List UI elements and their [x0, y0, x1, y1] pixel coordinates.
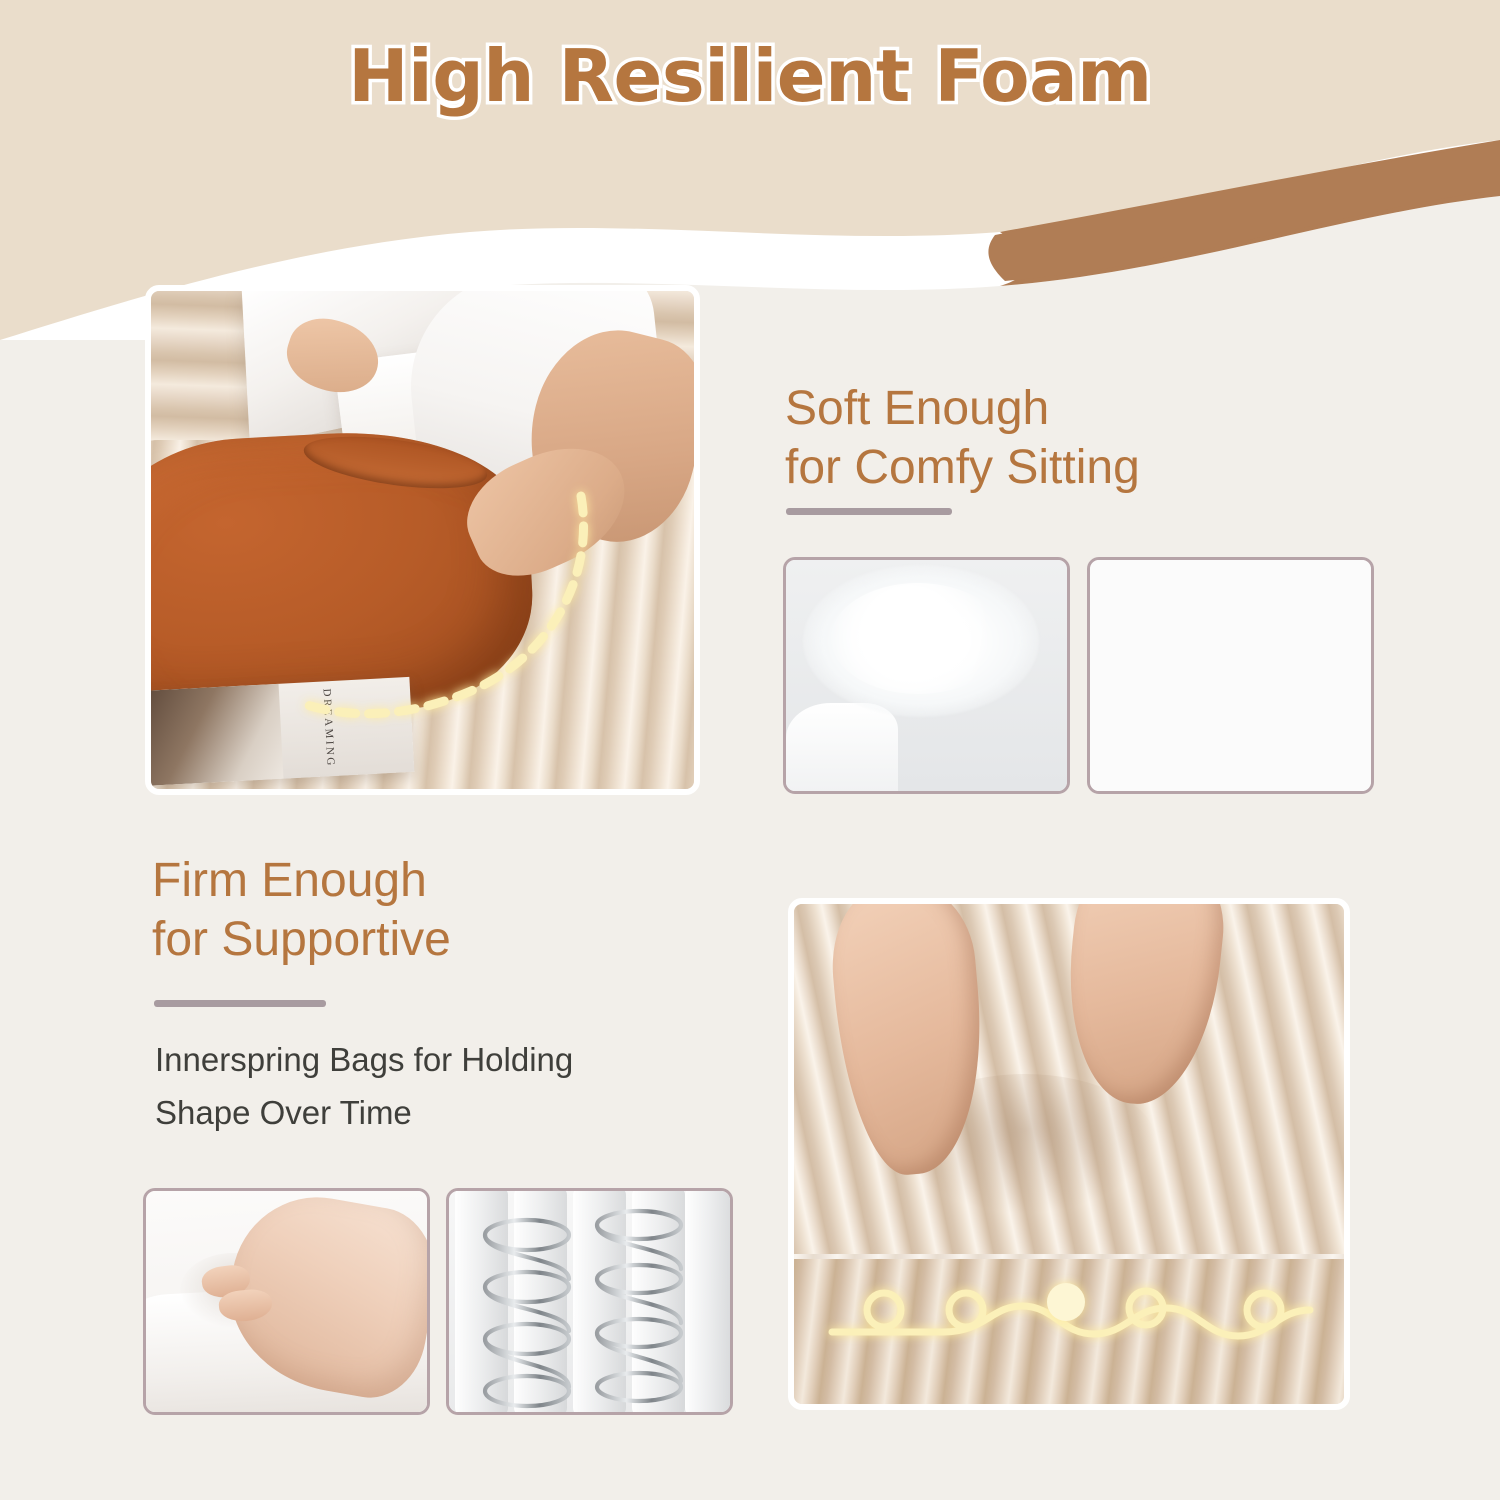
coil-springs-graphic [449, 1191, 730, 1412]
dashed-arc-overlay [151, 291, 694, 789]
innerspring-photo [446, 1188, 733, 1415]
page-title: High Resilient Foam [0, 34, 1500, 118]
feature-heading-soft: Soft Enough for Comfy Sitting [785, 380, 1345, 497]
feature-subtitle-firm: Innerspring Bags for Holding Shape Over … [155, 1033, 755, 1140]
foam-press-photo [143, 1188, 430, 1415]
feature-rule-soft [786, 508, 952, 515]
feature-rule-firm [154, 1000, 326, 1007]
person-reading-photo: DREAMING [145, 285, 700, 795]
feature-heading-firm: Firm Enough for Supportive [152, 852, 752, 969]
ergonomic-diagram-photo: 50 A B C O [1087, 557, 1374, 794]
diagram-background [1090, 560, 1371, 791]
fiber-cloud-core [831, 583, 1005, 694]
resilience-wave-overlay [794, 904, 1344, 1404]
fiber-fill-photo [783, 557, 1070, 794]
wave-highlight-dot [1047, 1283, 1085, 1321]
feet-on-cushion-photo [788, 898, 1350, 1410]
